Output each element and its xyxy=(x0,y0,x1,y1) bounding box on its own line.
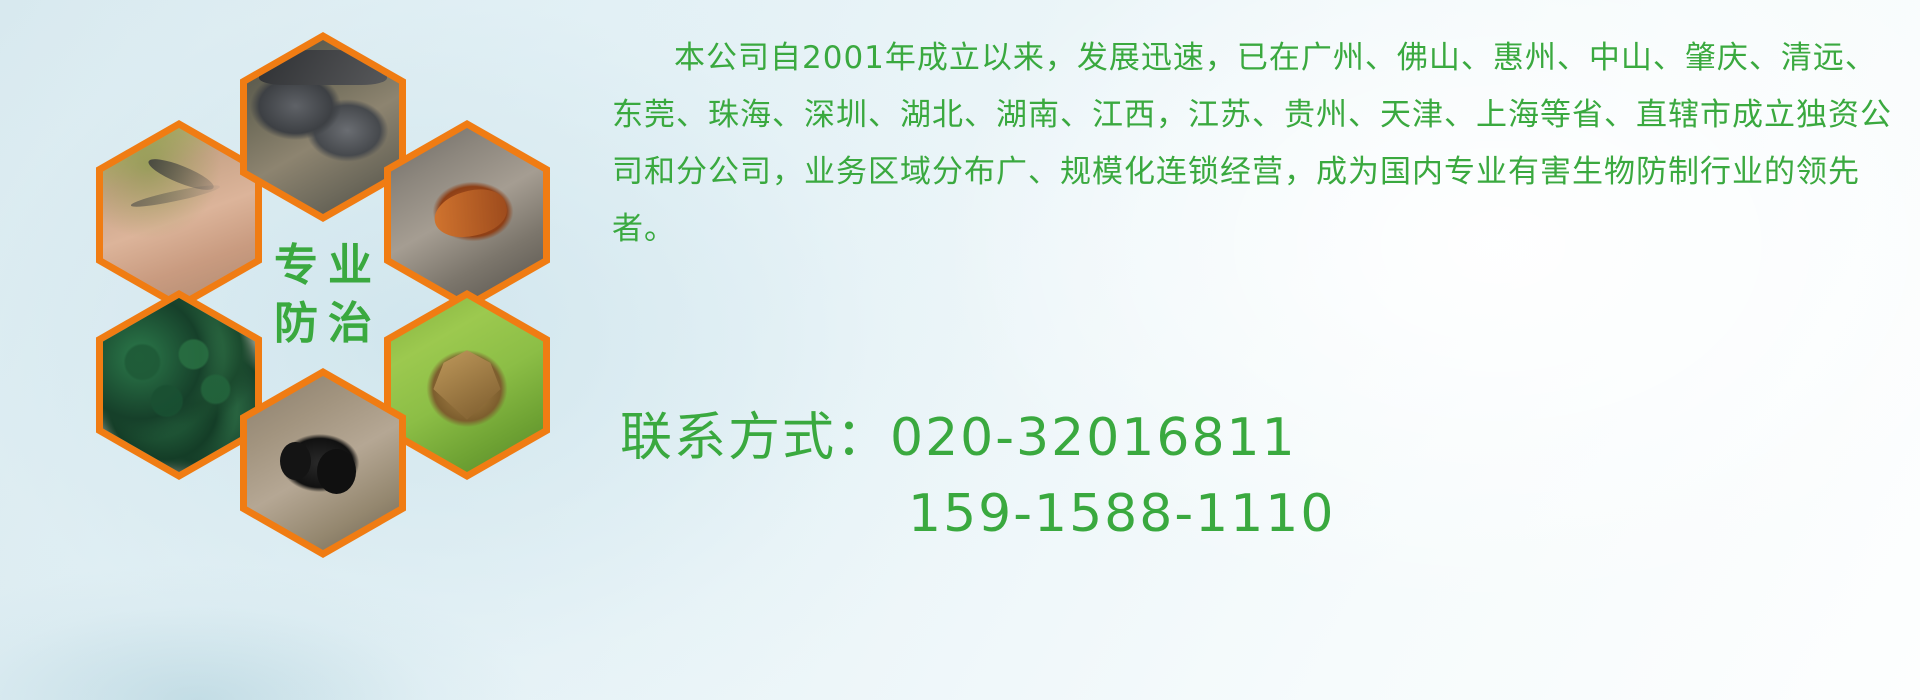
contact-block: 联系方式：020-32016811 159-1588-1110 xyxy=(620,400,1620,552)
intro-copy-block: 本公司自2001年成立以来，发展迅速，已在广州、佛山、惠州、中山、肇庆、清远、东… xyxy=(612,30,1892,258)
ant-icon xyxy=(247,376,399,550)
fly-icon xyxy=(103,298,255,472)
hex-photo-ant xyxy=(240,368,406,558)
hex-photo-stink-bug xyxy=(384,290,550,480)
hex-photo-mosquito xyxy=(96,120,262,310)
hex-photo-rats xyxy=(240,32,406,222)
contact-phone-primary[interactable]: 020-32016811 xyxy=(890,408,1297,468)
contact-phone-secondary[interactable]: 159-1588-1110 xyxy=(908,484,1335,544)
promotional-banner: 专业 防治 本公司自2001年成立以来，发展迅速，已在广州、佛山、惠州、中山、肇… xyxy=(0,0,1920,700)
hex-badge-slogan: 专业 防治 xyxy=(240,200,406,390)
contact-primary-line: 联系方式：020-32016811 xyxy=(620,400,1620,476)
rat-icon xyxy=(247,40,399,214)
contact-secondary-line: 159-1588-1110 xyxy=(620,476,1620,552)
mosquito-icon xyxy=(103,128,255,302)
hex-photo-cockroach xyxy=(384,120,550,310)
intro-paragraph: 本公司自2001年成立以来，发展迅速，已在广州、佛山、惠州、中山、肇庆、清远、东… xyxy=(612,30,1892,258)
slogan-line-1: 专业 xyxy=(264,237,382,295)
hexagon-photo-cluster: 专业 防治 xyxy=(96,10,586,570)
stink-bug-icon xyxy=(391,298,543,472)
cockroach-icon xyxy=(391,128,543,302)
slogan-line-2: 防治 xyxy=(264,295,382,353)
contact-label: 联系方式： xyxy=(620,408,890,468)
hex-photo-flies xyxy=(96,290,262,480)
